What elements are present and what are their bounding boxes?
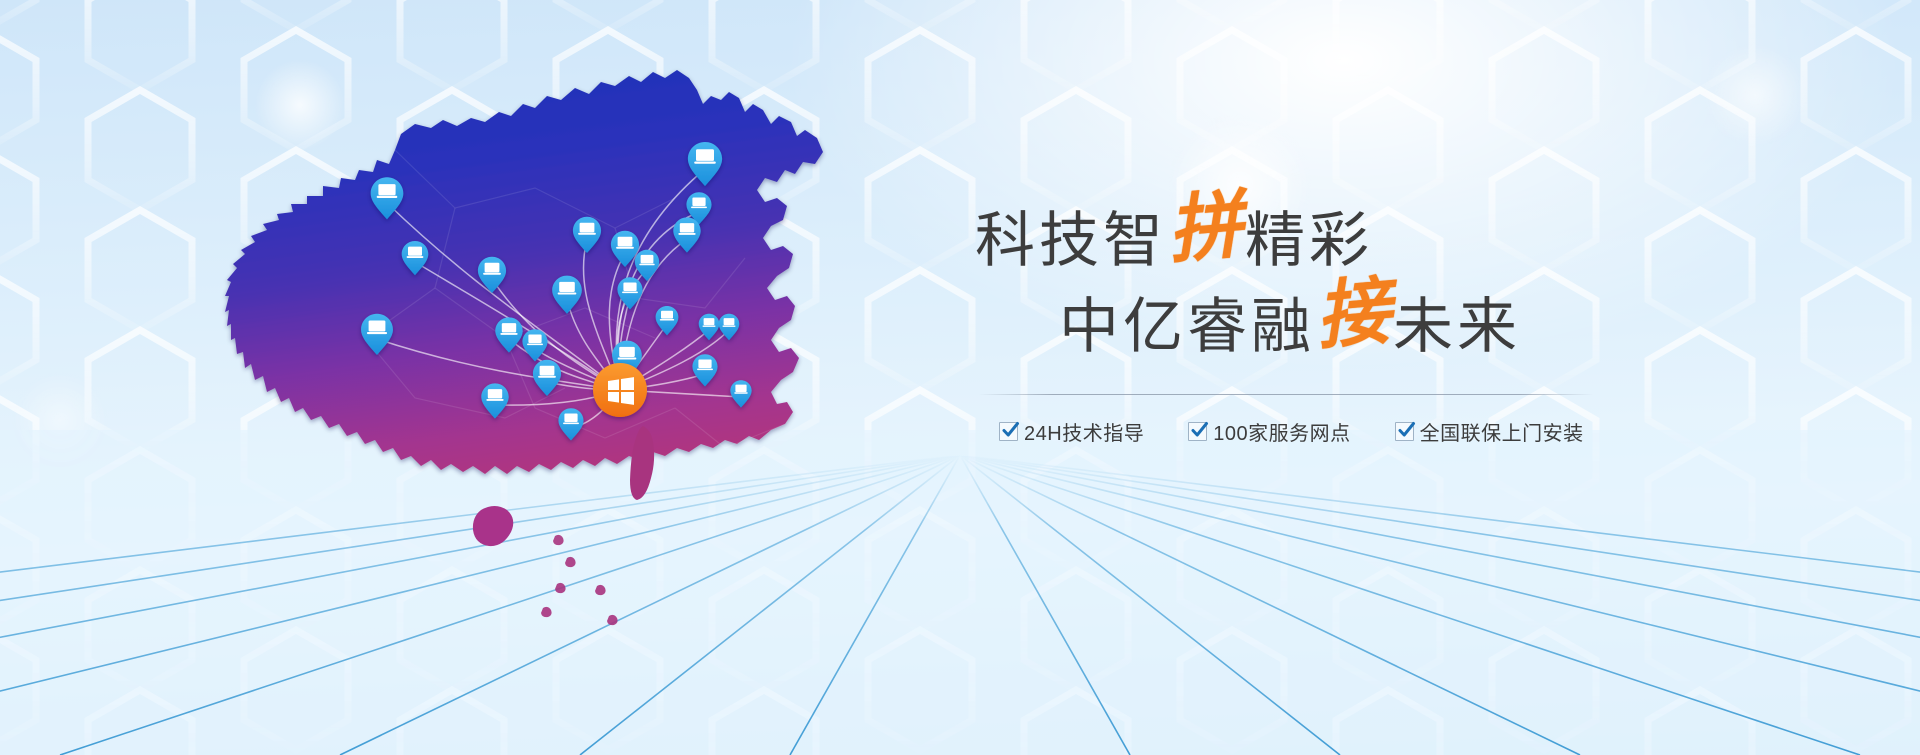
headline-block: 科技智拼精彩 中亿睿融接未来 24H技术指导 <box>975 196 1635 446</box>
feature-item-nationwide-install: 全国联保上门安装 <box>1395 417 1584 446</box>
check-box-icon <box>1395 422 1414 441</box>
feature-label: 24H技术指导 <box>1024 417 1144 446</box>
headline-line-1: 科技智拼精彩 <box>975 196 1635 282</box>
china-coverage-map <box>205 38 845 628</box>
check-box-icon <box>1188 422 1207 441</box>
headline-line2-part-b: 未来 <box>1393 293 1521 360</box>
feature-item-24h-support: 24H技术指导 <box>999 417 1144 446</box>
feature-item-service-points: 100家服务网点 <box>1188 417 1350 446</box>
feature-label: 100家服务网点 <box>1213 417 1350 446</box>
headline-divider <box>979 394 1593 395</box>
headline-line2-brush-char: 接 <box>1313 271 1394 359</box>
headline-line1-part-b: 精彩 <box>1245 207 1373 274</box>
headline-line-2: 中亿睿融接未来 <box>975 282 1635 368</box>
headline-line1-part-a: 科技智 <box>975 207 1167 274</box>
feature-label: 全国联保上门安装 <box>1420 417 1584 446</box>
headline-line2-part-a: 中亿睿融 <box>1059 293 1315 360</box>
hero-banner: 科技智拼精彩 中亿睿融接未来 24H技术指导 <box>0 0 1920 755</box>
feature-list: 24H技术指导 100家服务网点 全国联保上门安装 <box>999 417 1635 446</box>
check-box-icon <box>999 422 1018 441</box>
headline-line1-brush-char: 拼 <box>1165 185 1246 273</box>
hub-marker <box>593 363 647 417</box>
